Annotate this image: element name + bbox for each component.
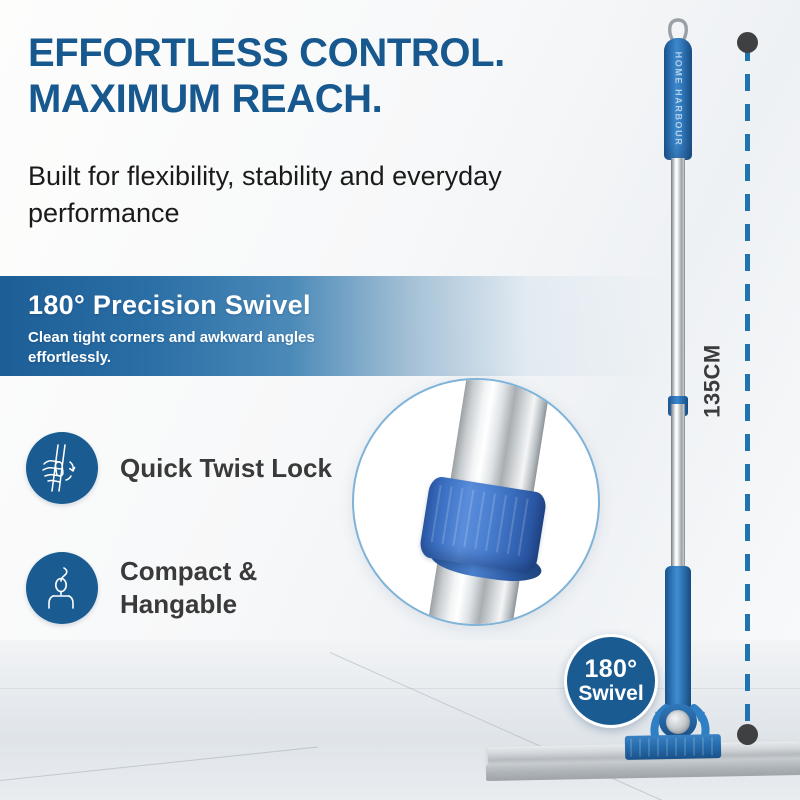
measurement-dot-bottom — [737, 724, 758, 745]
headline-line-1: EFFORTLESS CONTROL. — [28, 30, 648, 76]
hanging-hook-icon — [26, 552, 98, 624]
telescopic-pole-lower — [671, 404, 685, 580]
swivel-label: Swivel — [578, 682, 643, 706]
page-title: EFFORTLESS CONTROL. MAXIMUM REACH. — [28, 30, 648, 122]
swivel-hub — [666, 710, 690, 734]
telescopic-pole-upper — [671, 158, 685, 410]
measurement-dot-top — [737, 32, 758, 53]
feature-item-compact-hangable: Compact & Hangable — [26, 552, 340, 624]
brand-label: HOME HARBOUR — [664, 38, 692, 160]
brand-text: HOME HARBOUR — [673, 52, 683, 147]
feature-item-quick-twist-lock: Quick Twist Lock — [26, 432, 340, 504]
mop-head-connector — [625, 734, 721, 760]
infographic-canvas: EFFORTLESS CONTROL. MAXIMUM REACH. Built… — [0, 0, 800, 800]
twist-lock-closeup — [352, 378, 600, 626]
subheadline: Built for flexibility, stability and eve… — [28, 158, 548, 232]
measurement-label: 135CM — [700, 344, 726, 417]
feature-label: Quick Twist Lock — [120, 452, 340, 485]
swivel-degrees: 180° — [585, 656, 638, 682]
hand-twist-lock-icon — [26, 432, 98, 504]
swivel-badge: 180° Swivel — [564, 634, 658, 728]
banner-title: 180° Precision Swivel — [28, 290, 311, 321]
headline-line-2: MAXIMUM REACH. — [28, 76, 648, 122]
banner-subtitle: Clean tight corners and awkward angles e… — [28, 328, 328, 368]
measurement-line — [745, 44, 750, 736]
feature-label: Compact & Hangable — [120, 555, 340, 621]
